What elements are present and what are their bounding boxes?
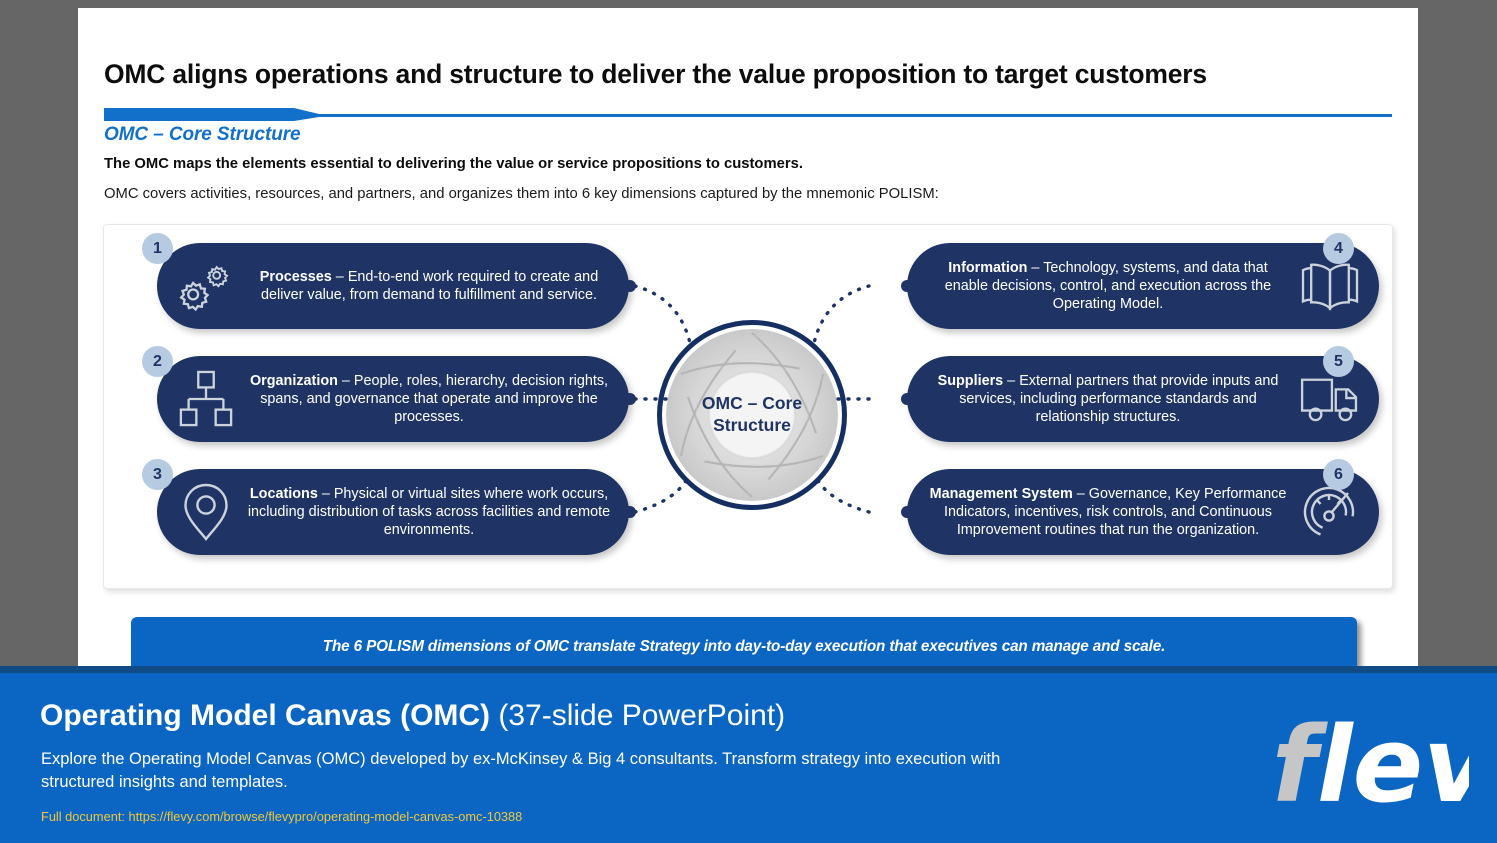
org-chart-icon xyxy=(173,366,239,432)
dimension-dash: – xyxy=(1073,486,1089,502)
core-structure-hub: OMC – Core Structure xyxy=(657,320,847,510)
dimension-card-suppliers[interactable]: Suppliers – External partners that provi… xyxy=(907,356,1379,442)
connector-nub-4 xyxy=(901,280,913,292)
dimension-card-organization[interactable]: Organization – People, roles, hierarchy,… xyxy=(157,356,629,442)
speedometer-icon xyxy=(1297,479,1363,545)
polism-diagram-panel: Processes – End-to-end work required to … xyxy=(103,224,1393,589)
dimension-dash: – xyxy=(318,486,334,502)
dimension-term: Management System xyxy=(930,486,1073,502)
map-pin-icon xyxy=(173,479,239,545)
flevy-footer: Operating Model Canvas (OMC) (37-slide P… xyxy=(0,666,1497,843)
dimension-badge-4: 4 xyxy=(1323,233,1354,264)
dimension-term: Organization xyxy=(250,373,338,389)
page-title: OMC aligns operations and structure to d… xyxy=(104,60,1394,89)
dimension-badge-5: 5 xyxy=(1323,346,1354,377)
dimension-term: Information xyxy=(948,260,1027,276)
connector-nub-2 xyxy=(624,393,636,405)
dimension-badge-6: 6 xyxy=(1323,459,1354,490)
dimension-card-text: Suppliers – External partners that provi… xyxy=(907,372,1297,427)
dimension-badge-3: 3 xyxy=(142,459,173,490)
dimension-card-locations[interactable]: Locations – Physical or virtual sites wh… xyxy=(157,469,629,555)
dimension-card-text: Processes – End-to-end work required to … xyxy=(239,268,629,305)
flevy-logo: f levy xyxy=(1149,705,1469,821)
lead-statement-bold: The OMC maps the elements essential to d… xyxy=(104,156,1304,172)
dimension-card-management-system[interactable]: Management System – Governance, Key Perf… xyxy=(907,469,1379,555)
dimension-card-text: Organization – People, roles, hierarchy,… xyxy=(239,372,629,427)
document-title-light: (37-slide PowerPoint) xyxy=(490,699,785,732)
document-description: Explore the Operating Model Canvas (OMC)… xyxy=(41,748,1071,794)
section-subtitle: OMC – Core Structure xyxy=(104,124,300,146)
dimension-term: Locations xyxy=(250,486,318,502)
dimension-term: Processes xyxy=(260,269,332,285)
logo-levy: levy xyxy=(1317,705,1469,821)
delivery-truck-icon xyxy=(1297,366,1363,432)
gears-icon xyxy=(173,253,239,319)
dimension-term: Suppliers xyxy=(938,373,1004,389)
slide-canvas: OMC aligns operations and structure to d… xyxy=(78,8,1418,716)
connector-nub-1 xyxy=(624,280,636,292)
dimension-dash: – xyxy=(332,269,348,285)
hub-label: OMC – Core Structure xyxy=(657,320,847,510)
dimension-card-text: Locations – Physical or virtual sites wh… xyxy=(239,485,629,540)
hub-label-line2: Structure xyxy=(713,415,791,435)
dimension-card-processes[interactable]: Processes – End-to-end work required to … xyxy=(157,243,629,329)
document-title-strong: Operating Model Canvas (OMC) xyxy=(40,699,490,732)
open-book-icon xyxy=(1297,253,1363,319)
connector-nub-3 xyxy=(624,506,636,518)
dimension-card-information[interactable]: Information – Technology, systems, and d… xyxy=(907,243,1379,329)
dimension-dash: – xyxy=(1003,373,1019,389)
dimension-badge-2: 2 xyxy=(142,346,173,377)
lead-statement-plain: OMC covers activities, resources, and pa… xyxy=(104,186,1354,202)
title-divider xyxy=(104,108,1392,121)
dimension-badge-1: 1 xyxy=(142,233,173,264)
dimension-dash: – xyxy=(338,373,354,389)
takeaway-text: The 6 POLISM dimensions of OMC translate… xyxy=(131,638,1357,656)
document-link[interactable]: Full document: https://flevy.com/browse/… xyxy=(41,809,522,824)
hub-label-line1: OMC – Core xyxy=(702,393,802,413)
dimension-card-text: Management System – Governance, Key Perf… xyxy=(907,485,1297,540)
connector-nub-6 xyxy=(901,506,913,518)
connector-nub-5 xyxy=(901,393,913,405)
dimension-dash: – xyxy=(1027,260,1043,276)
document-title: Operating Model Canvas (OMC) (37-slide P… xyxy=(40,699,785,733)
dimension-card-text: Information – Technology, systems, and d… xyxy=(907,259,1297,314)
